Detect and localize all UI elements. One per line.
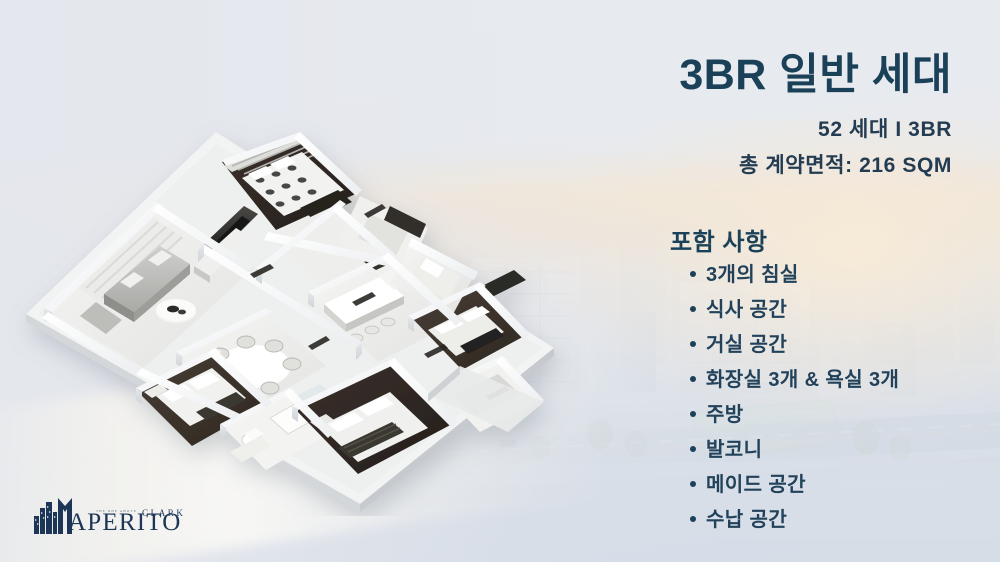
list-item-label: 주방 — [706, 405, 744, 425]
inclusions-heading: 포함 사항 — [670, 222, 966, 257]
bullet-icon — [690, 271, 696, 277]
list-item-label: 메이드 공간 — [706, 475, 806, 495]
brand-logo: THE ONE ABOVE CLARK APERITO — [32, 492, 182, 536]
list-item-label: 3개의 침실 — [706, 265, 799, 285]
bullet-icon — [690, 481, 696, 487]
logo-tagline: THE ONE ABOVE — [96, 509, 137, 513]
list-item-label: 거실 공간 — [706, 335, 787, 355]
bullet-icon — [690, 341, 696, 347]
subtitle-area: 총 계약면적: 216 SQM — [560, 150, 952, 182]
floor-plan-3d-render — [8, 96, 588, 516]
subtitle-block: 52 세대 I 3BR 총 계약면적: 216 SQM — [560, 114, 952, 181]
bullet-icon — [690, 516, 696, 522]
bullet-icon — [690, 376, 696, 382]
inclusions-block: 포함 사항 3개의 침실 식사 공간 거실 공간 화장실 3개 & 욕실 3개 … — [666, 222, 966, 545]
list-item-label: 발코니 — [706, 440, 762, 460]
list-item: 식사 공간 — [666, 300, 966, 335]
bullet-icon — [690, 306, 696, 312]
list-item: 수납 공간 — [666, 510, 966, 545]
list-item: 주방 — [666, 405, 966, 440]
list-item-label: 식사 공간 — [706, 300, 787, 320]
subtitle-units: 52 세대 I 3BR — [818, 118, 952, 141]
list-item: 거실 공간 — [666, 335, 966, 370]
inclusions-list: 3개의 침실 식사 공간 거실 공간 화장실 3개 & 욕실 3개 주방 발코니… — [666, 265, 966, 545]
list-item: 발코니 — [666, 440, 966, 475]
list-item: 메이드 공간 — [666, 475, 966, 510]
bullet-icon — [690, 411, 696, 417]
list-item-label: 화장실 3개 & 욕실 3개 — [706, 370, 899, 390]
logo-wordmark: THE ONE ABOVE CLARK APERITO — [68, 510, 182, 536]
bullet-icon — [690, 446, 696, 452]
logo-clark-text: CLARK — [142, 508, 186, 518]
headline-block: 3BR 일반 세대 52 세대 I 3BR 총 계약면적: 216 SQM — [560, 52, 952, 181]
slide-root: 3BR 일반 세대 52 세대 I 3BR 총 계약면적: 216 SQM 포함… — [0, 0, 1000, 562]
list-item: 3개의 침실 — [666, 265, 966, 300]
list-item: 화장실 3개 & 욕실 3개 — [666, 370, 966, 405]
page-title: 3BR 일반 세대 — [560, 52, 952, 98]
list-item-label: 수납 공간 — [706, 510, 787, 530]
